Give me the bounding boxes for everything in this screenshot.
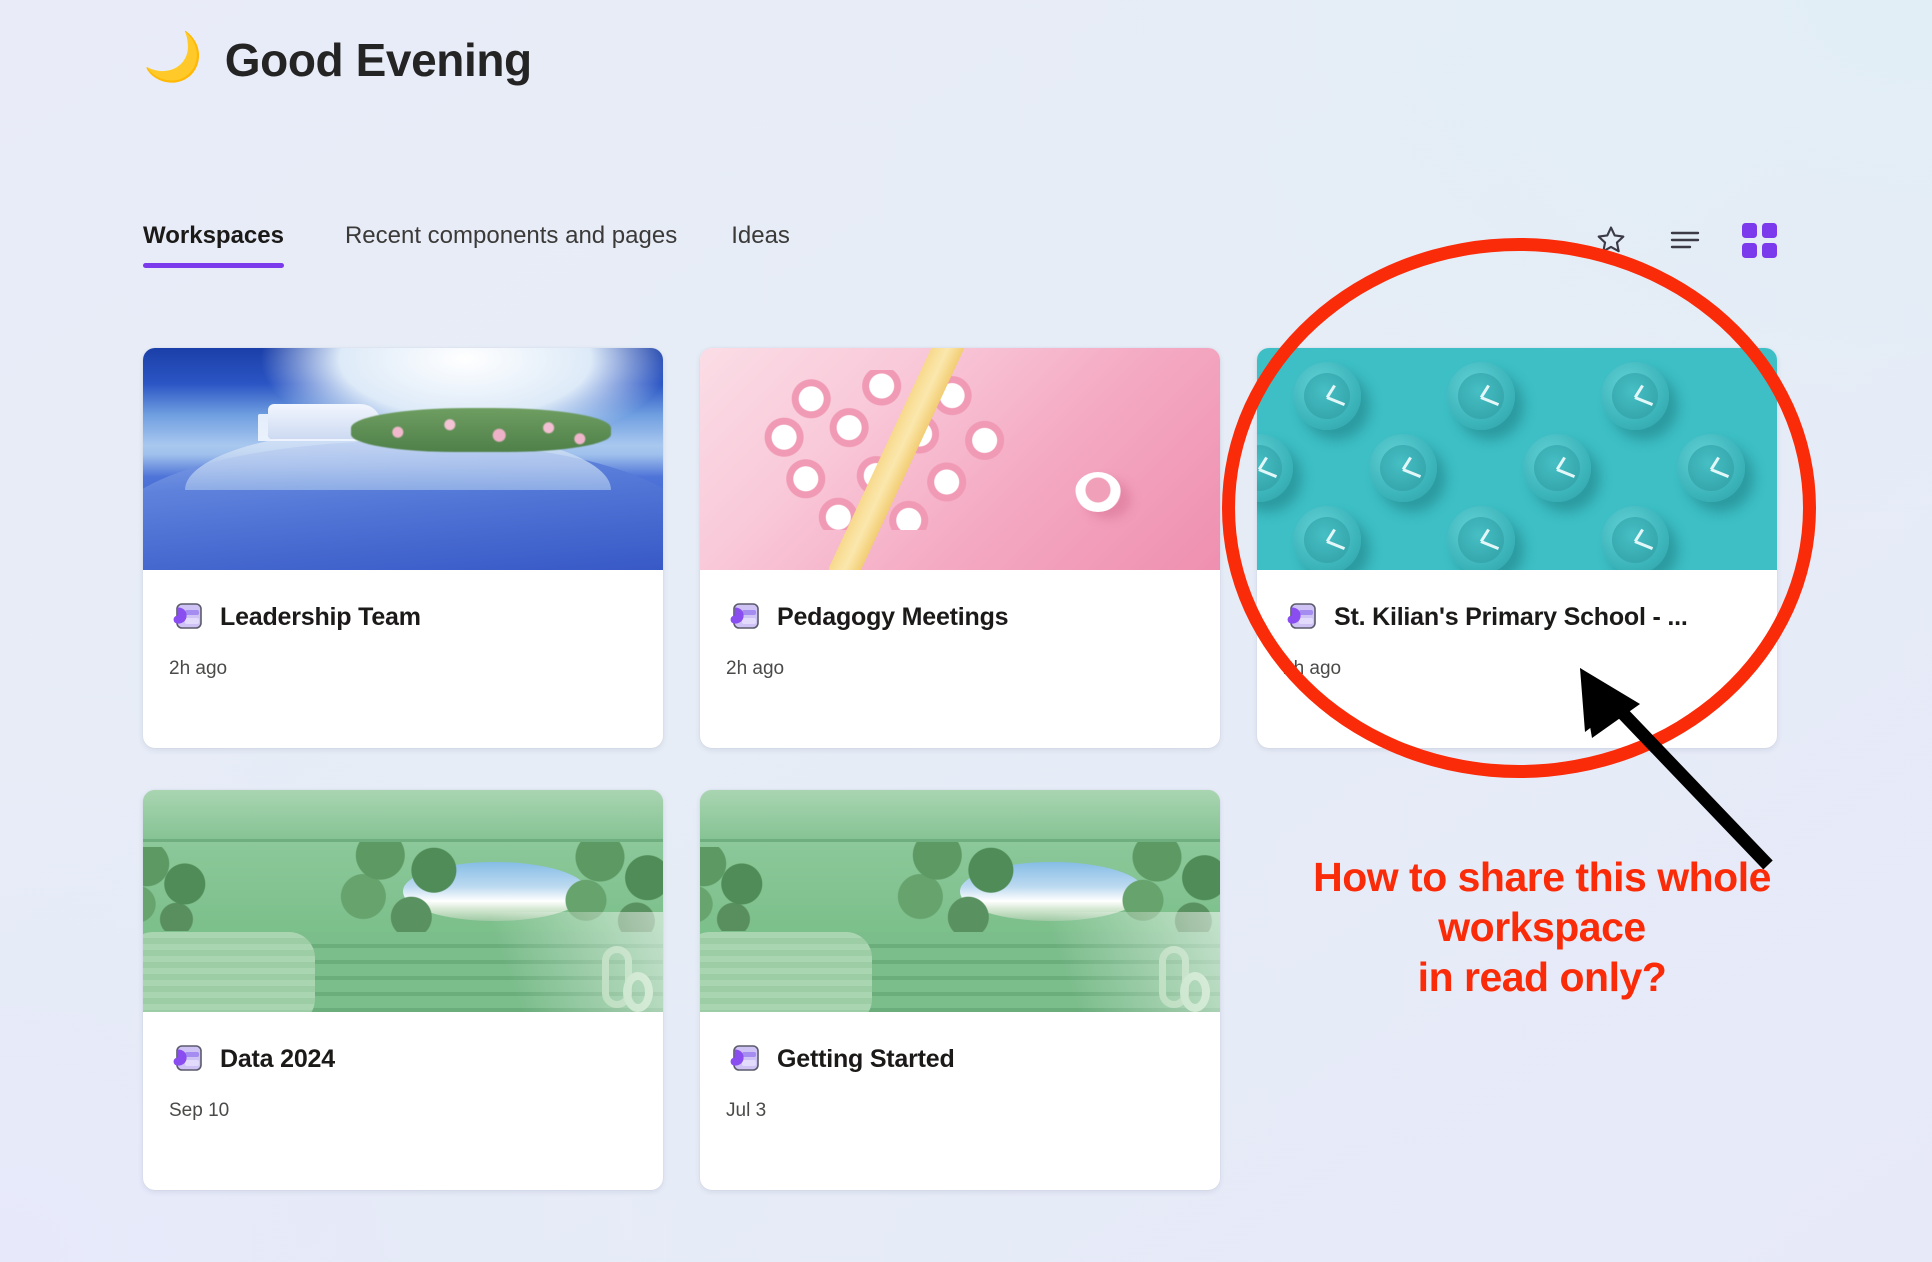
card-title: Getting Started <box>777 1045 955 1074</box>
card-body: Data 2024 Sep 10 <box>143 1012 663 1190</box>
workspace-card-grid: Leadership Team 2h ago Pedagogy Meetings <box>143 348 1483 1190</box>
workspace-card[interactable]: Pedagogy Meetings 2h ago <box>700 348 1220 748</box>
card-date: 2h ago <box>1283 658 1751 680</box>
view-actions <box>1591 220 1789 260</box>
tab-bar: Workspaces Recent components and pages I… <box>143 218 1789 280</box>
card-title: Data 2024 <box>220 1045 335 1074</box>
workspace-card[interactable]: St. Kilian's Primary School - ... 2h ago <box>1257 348 1777 748</box>
tab-workspaces[interactable]: Workspaces <box>143 218 318 254</box>
favorites-star-icon[interactable] <box>1591 220 1631 260</box>
page-title: Good Evening <box>225 33 532 87</box>
workspace-icon <box>169 601 203 633</box>
workspace-icon <box>726 601 760 633</box>
workspace-card[interactable]: Getting Started Jul 3 <box>700 790 1220 1190</box>
list-view-icon[interactable] <box>1665 220 1705 260</box>
workspace-card[interactable]: Leadership Team 2h ago <box>143 348 663 748</box>
card-date: Sep 10 <box>169 1100 637 1122</box>
workspace-card[interactable]: Data 2024 Sep 10 <box>143 790 663 1190</box>
card-title: Leadership Team <box>220 603 421 632</box>
tab-list: Workspaces Recent components and pages I… <box>143 218 817 254</box>
card-thumbnail-green-interior <box>700 790 1220 1012</box>
card-thumbnail-teal-clocks <box>1257 348 1777 570</box>
card-body: Leadership Team 2h ago <box>143 570 663 748</box>
card-date: Jul 3 <box>726 1100 1194 1122</box>
card-thumbnail-green-interior <box>143 790 663 1012</box>
card-title: Pedagogy Meetings <box>777 603 1008 632</box>
card-body: Getting Started Jul 3 <box>700 1012 1220 1190</box>
workspace-icon <box>169 1043 203 1075</box>
crescent-moon-emoji: 🌙 <box>143 34 203 82</box>
card-thumbnail-blue-landscape <box>143 348 663 570</box>
card-date: 2h ago <box>169 658 637 680</box>
tab-ideas[interactable]: Ideas <box>704 218 817 254</box>
workspace-icon <box>726 1043 760 1075</box>
card-date: 2h ago <box>726 658 1194 680</box>
grid-view-icon[interactable] <box>1739 220 1779 260</box>
card-body: St. Kilian's Primary School - ... 2h ago <box>1257 570 1777 748</box>
card-body: Pedagogy Meetings 2h ago <box>700 570 1220 748</box>
workspace-icon <box>1283 601 1317 633</box>
tab-recent-components-and-pages[interactable]: Recent components and pages <box>318 218 704 254</box>
grid-view-glyph <box>1742 223 1777 258</box>
card-thumbnail-pink-tape <box>700 348 1220 570</box>
card-title: St. Kilian's Primary School - ... <box>1334 603 1688 632</box>
page-greeting: 🌙 Good Evening <box>143 22 532 98</box>
